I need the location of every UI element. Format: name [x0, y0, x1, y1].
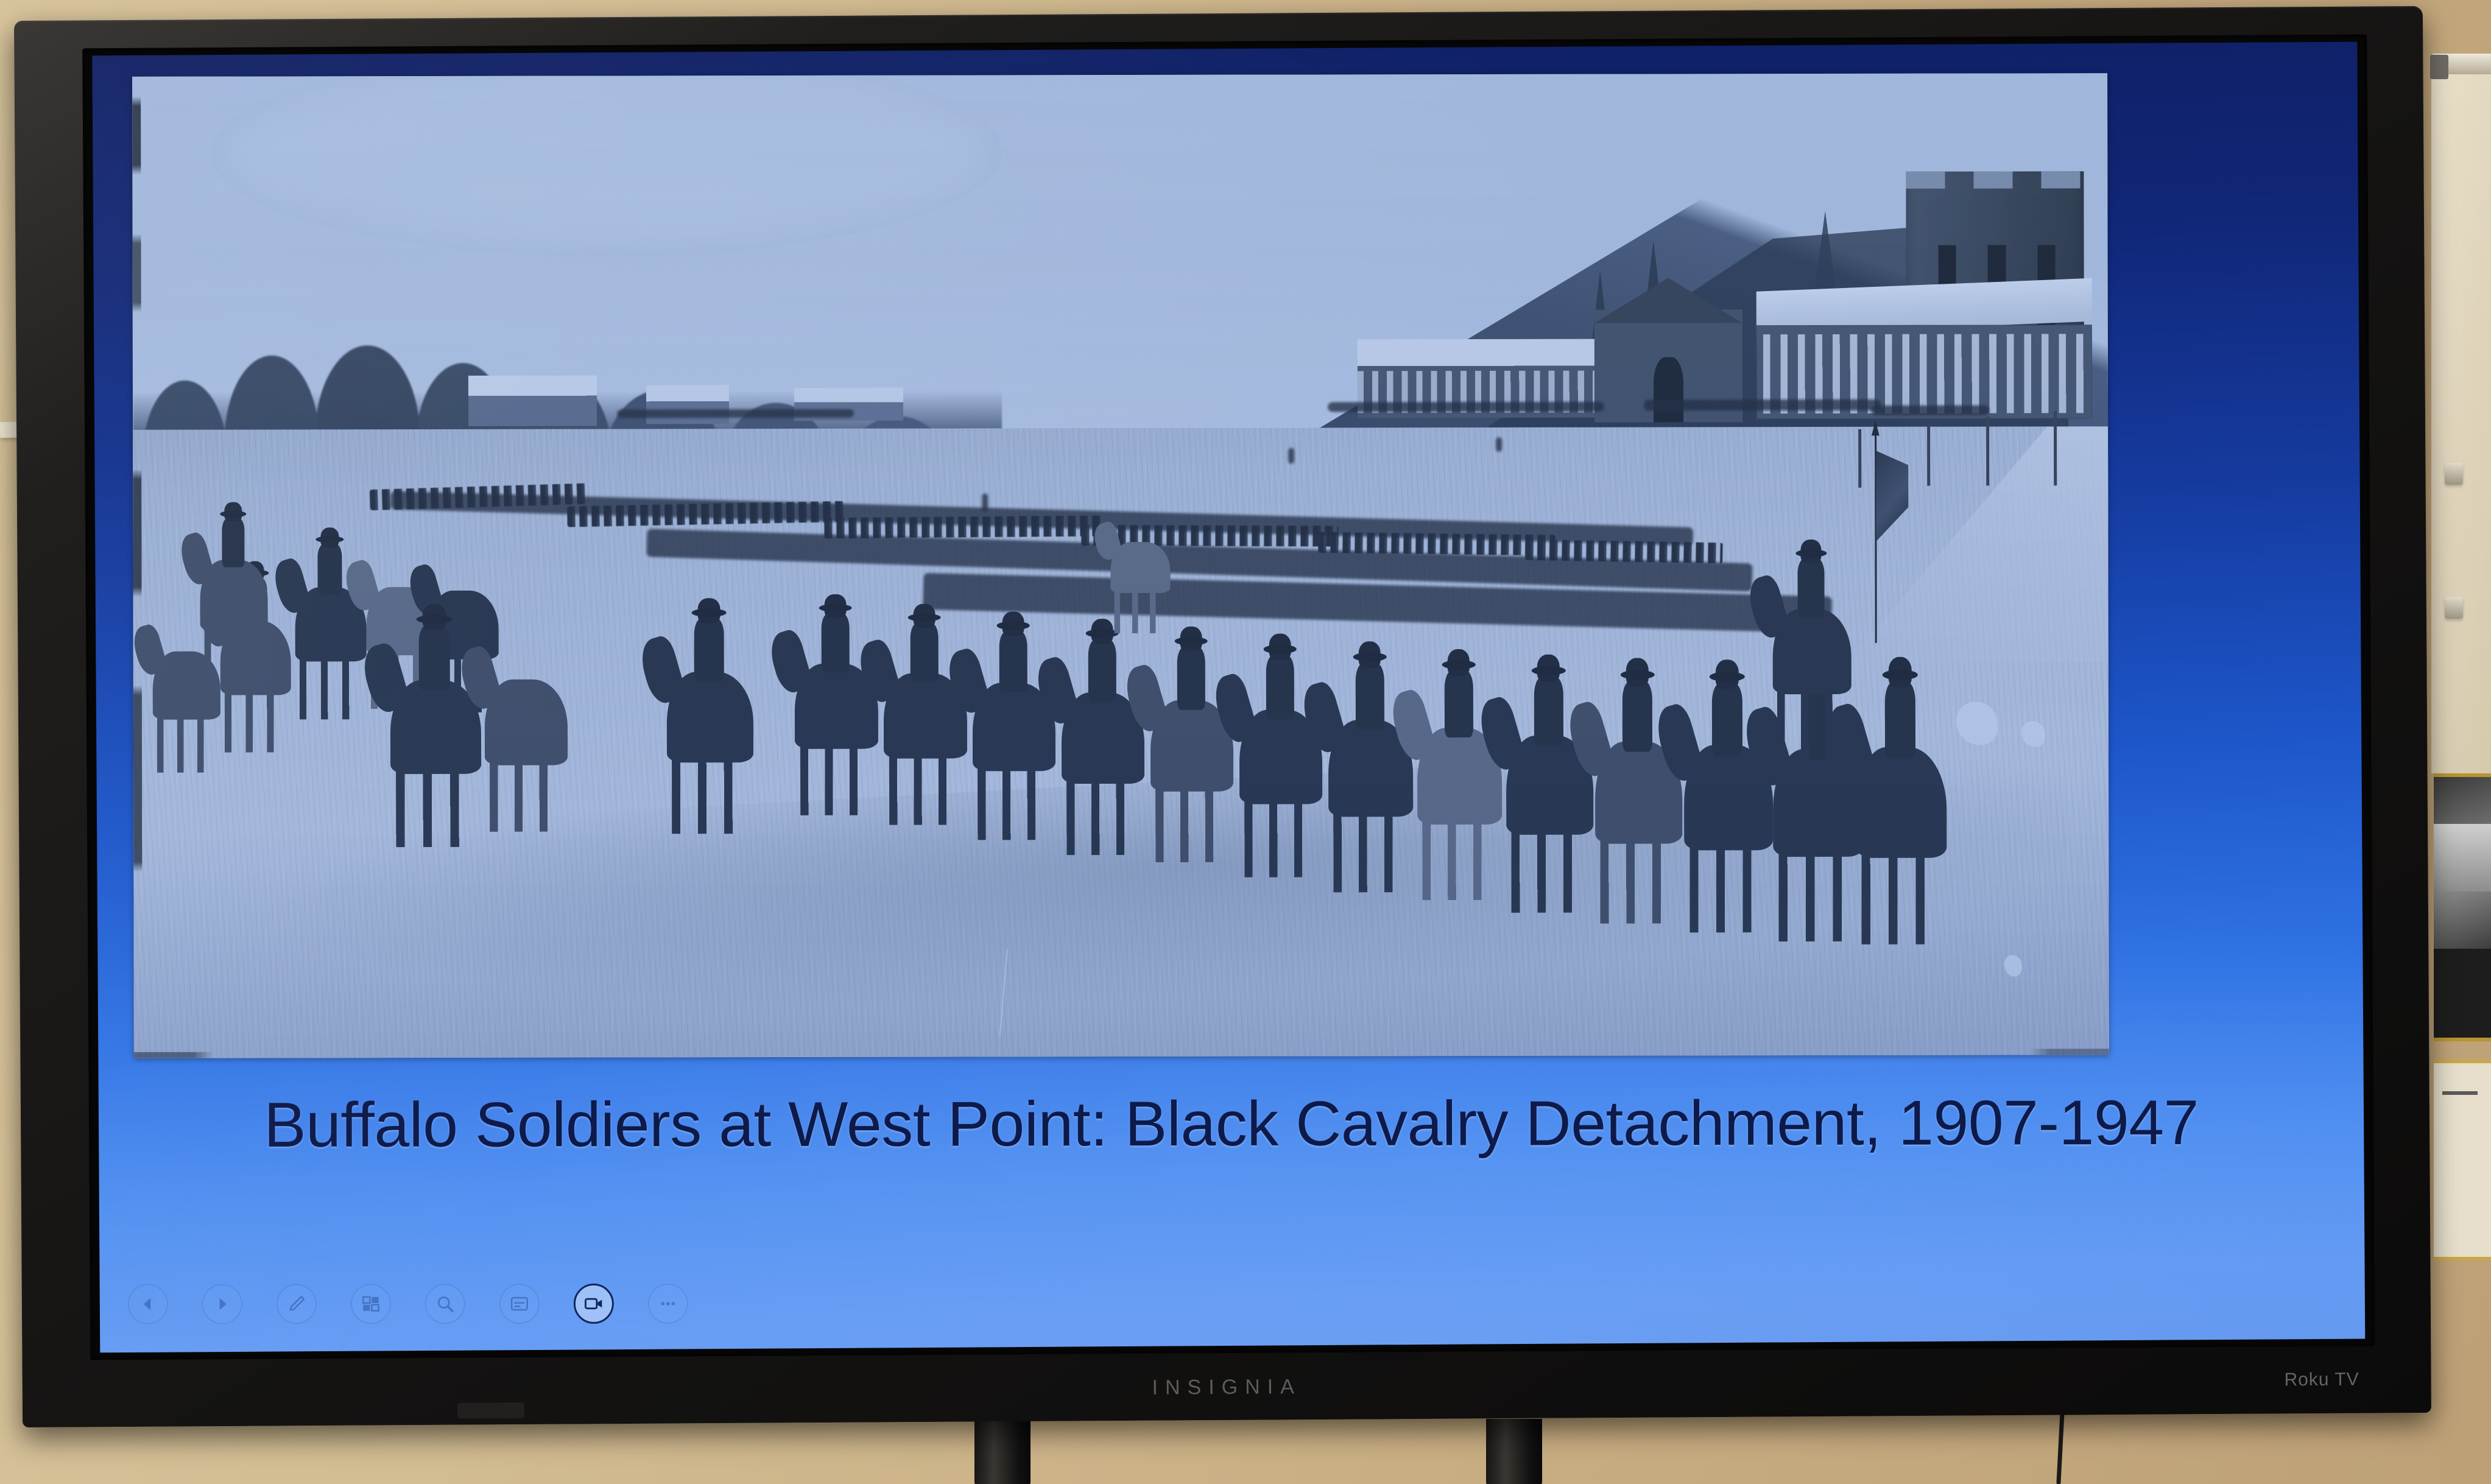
photo-horse [666, 672, 753, 763]
previous-slide-button[interactable] [128, 1284, 168, 1324]
photo-rider-torso [1266, 655, 1294, 720]
next-slide-button[interactable] [202, 1284, 242, 1324]
photo-rider-torso [1712, 683, 1742, 756]
whiteboard-rail-cap [2430, 55, 2448, 79]
ir-receiver-window [457, 1402, 524, 1419]
marker-clip [2445, 463, 2463, 485]
photo-cavalry-guidon [1865, 427, 1887, 643]
caret-left-icon [138, 1294, 158, 1315]
whiteboard-panel [2431, 67, 2491, 773]
photo-rider-head [1359, 641, 1381, 668]
photo-guidon-spear-tip [1872, 421, 1880, 436]
camera-button[interactable] [574, 1284, 614, 1324]
photo-rider-torso [694, 618, 724, 681]
photo-horse [200, 560, 267, 631]
photo-rider-head [1716, 659, 1739, 689]
photo-rider-head [1180, 627, 1202, 652]
tv-stand-leg [1486, 1419, 1542, 1484]
photo-rider-torso [318, 544, 342, 595]
photo-rider-torso [1444, 670, 1473, 737]
photo-edge-damage [132, 77, 143, 1058]
photo-rider-head [1448, 649, 1470, 676]
photo-rider-head [1002, 611, 1024, 636]
more-options-button[interactable] [648, 1284, 688, 1324]
photo-rider-torso [419, 625, 450, 689]
photo-mounted-trooper [485, 617, 568, 765]
photo-rider-torso [911, 623, 939, 682]
subtitles-icon [509, 1293, 530, 1314]
tv-screen[interactable]: Buffalo Soldiers at West Point: Black Ca… [92, 42, 2365, 1353]
photo-rider-head [1626, 658, 1649, 686]
zoom-in-button[interactable] [425, 1284, 465, 1324]
photo-blemish [2004, 955, 2022, 977]
photo-rider-head [1537, 655, 1560, 682]
photo-rider-torso [1884, 682, 1915, 759]
photo-rider-head [1269, 634, 1291, 660]
framed-photo-sky [2434, 824, 2491, 891]
historical-cavalry-photo [132, 73, 2109, 1058]
photo-blemish [2021, 721, 2045, 747]
ellipsis-icon [658, 1293, 678, 1314]
photo-rider-head [1888, 657, 1912, 687]
framed-photo [2434, 773, 2491, 1041]
photo-mounted-officer [1772, 547, 1852, 694]
subtitles-button[interactable] [499, 1284, 540, 1324]
slide-caption: Buffalo Soldiers at West Point: Black Ca… [99, 1090, 2364, 1159]
photo-horse [1856, 747, 1947, 858]
photo-standing-figure [982, 493, 988, 512]
photo-rider-head [698, 598, 721, 623]
slide-photo-container [132, 73, 2109, 1058]
framed-photo-foreground [2434, 949, 2491, 1038]
pen-icon [286, 1293, 307, 1314]
photo-horse [485, 680, 568, 765]
marker-clip [2445, 597, 2463, 619]
photo-mounted-trooper [200, 508, 268, 631]
caret-right-icon [212, 1293, 233, 1314]
photo-loose-horse [1111, 505, 1171, 593]
ink-pen-button[interactable] [277, 1284, 317, 1324]
photo-horse [1772, 608, 1852, 694]
magnifier-icon [435, 1293, 456, 1314]
photo-mounted-officer [666, 606, 753, 763]
photo-rider-torso [1088, 639, 1116, 702]
presentation-slide[interactable]: Buffalo Soldiers at West Point: Black Ca… [92, 42, 2365, 1353]
photo-rider-head [825, 594, 846, 618]
framed-poster [2434, 1060, 2491, 1261]
roku-tv-logo: Roku TV [2284, 1370, 2359, 1391]
photo-rider-head [914, 604, 935, 628]
photo-rider-head [1091, 619, 1113, 644]
photo-rider-head [1801, 540, 1822, 563]
photo-rider-torso [1177, 647, 1205, 709]
television: Buffalo Soldiers at West Point: Black Ca… [14, 6, 2431, 1427]
photo-horse [1111, 542, 1170, 593]
photo-rider-torso [1355, 663, 1384, 730]
photo-rider-head [423, 604, 446, 630]
all-slides-button[interactable] [351, 1284, 391, 1324]
photo-cavalry-formation [132, 73, 2109, 1058]
grid-icon [361, 1293, 381, 1314]
photo-rider-torso [822, 613, 850, 672]
photo-rider-torso [1622, 681, 1652, 751]
photo-standing-figure [1496, 437, 1502, 452]
photo-rider-torso [1798, 558, 1825, 617]
presenter-toolbar[interactable] [128, 1284, 688, 1324]
framed-poster-text [2442, 1091, 2478, 1095]
photo-guidon-bearer [1856, 666, 1947, 858]
photo-rider-torso [1534, 677, 1563, 746]
tv-stand-leg [974, 1419, 1031, 1484]
photo-rider-head [320, 527, 339, 548]
photo-rider-head [224, 502, 242, 522]
photo-rider-torso [999, 631, 1027, 692]
photo-standing-figure [1288, 448, 1294, 463]
photo-guidon-flag [1876, 451, 1909, 541]
photo-rider-torso [222, 518, 245, 568]
camera-icon [583, 1293, 604, 1314]
